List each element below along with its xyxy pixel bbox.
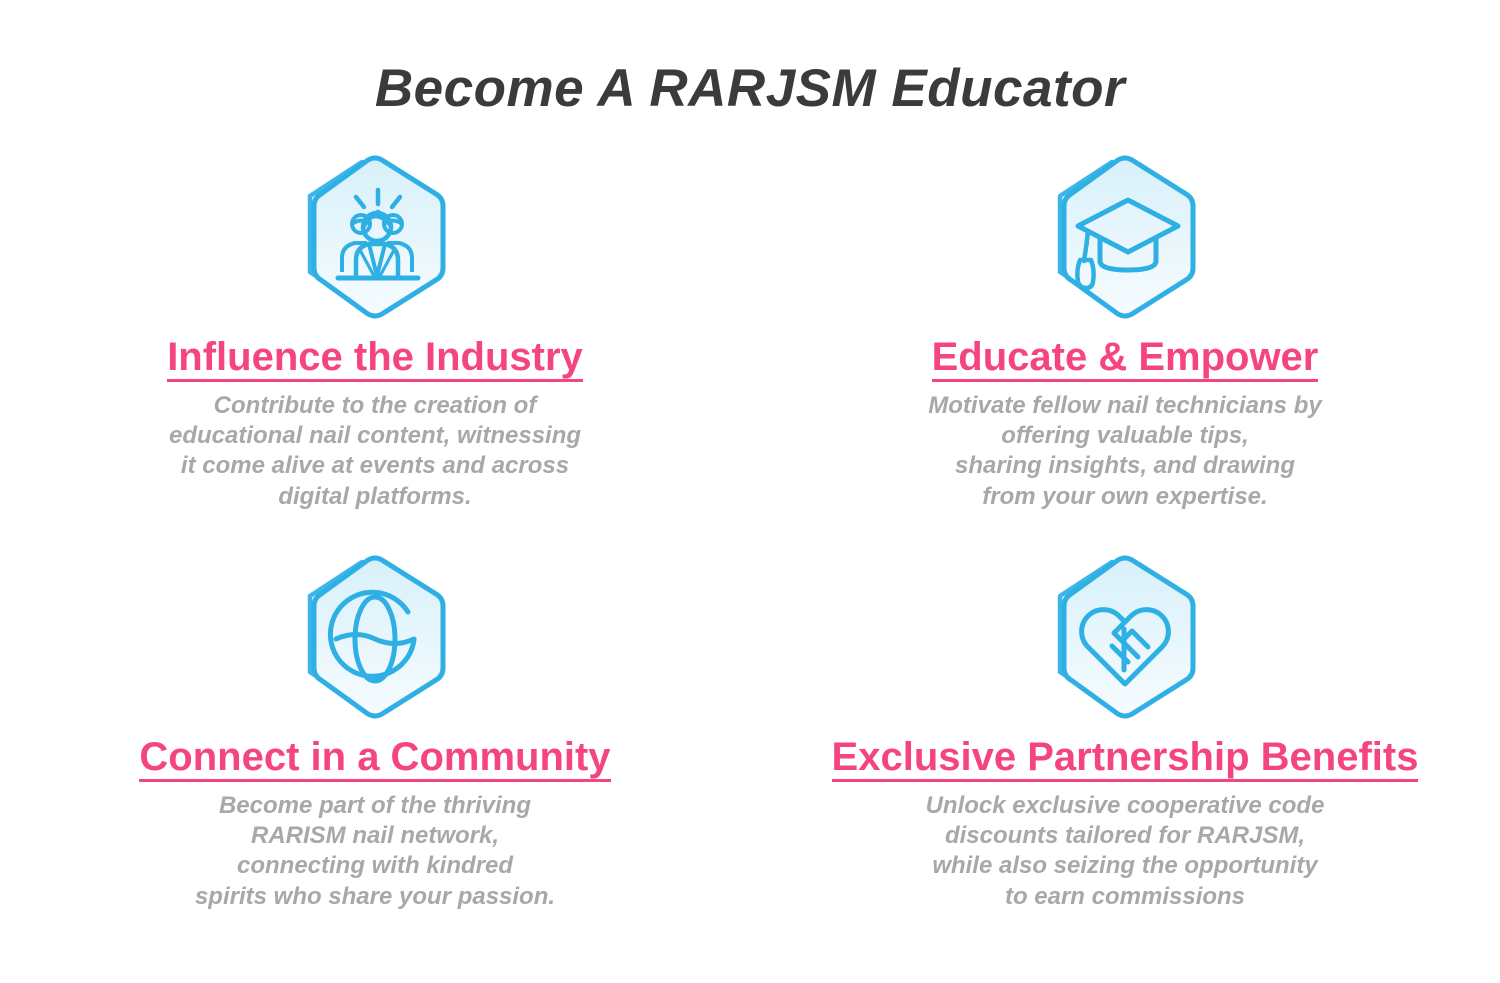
feature-body: Unlock exclusive cooperative code discou… <box>926 791 1325 912</box>
heart-handshake-icon <box>1030 550 1220 730</box>
feature-card-educate: Educate & Empower Motivate fellow nail t… <box>750 150 1500 550</box>
feature-heading: Educate & Empower <box>932 336 1319 382</box>
feature-body: Contribute to the creation of educationa… <box>169 391 581 512</box>
people-group-icon <box>280 150 470 330</box>
page-title: Become A RARJSM Educator <box>0 58 1500 119</box>
feature-card-partnership: Exclusive Partnership Benefits Unlock ex… <box>750 550 1500 950</box>
globe-network-icon <box>280 550 470 730</box>
poster-root: Become A RARJSM Educator <box>0 0 1500 983</box>
graduation-cap-icon <box>1030 150 1220 330</box>
feature-body: Motivate fellow nail technicians by offe… <box>928 391 1321 512</box>
feature-body: Become part of the thriving RARISM nail … <box>195 791 555 912</box>
feature-card-influence: Influence the Industry Contribute to the… <box>0 150 750 550</box>
feature-heading: Connect in a Community <box>139 736 610 782</box>
feature-grid: Influence the Industry Contribute to the… <box>0 150 1500 950</box>
feature-heading: Influence the Industry <box>167 336 583 382</box>
feature-heading: Exclusive Partnership Benefits <box>832 736 1419 782</box>
feature-card-community: Connect in a Community Become part of th… <box>0 550 750 950</box>
